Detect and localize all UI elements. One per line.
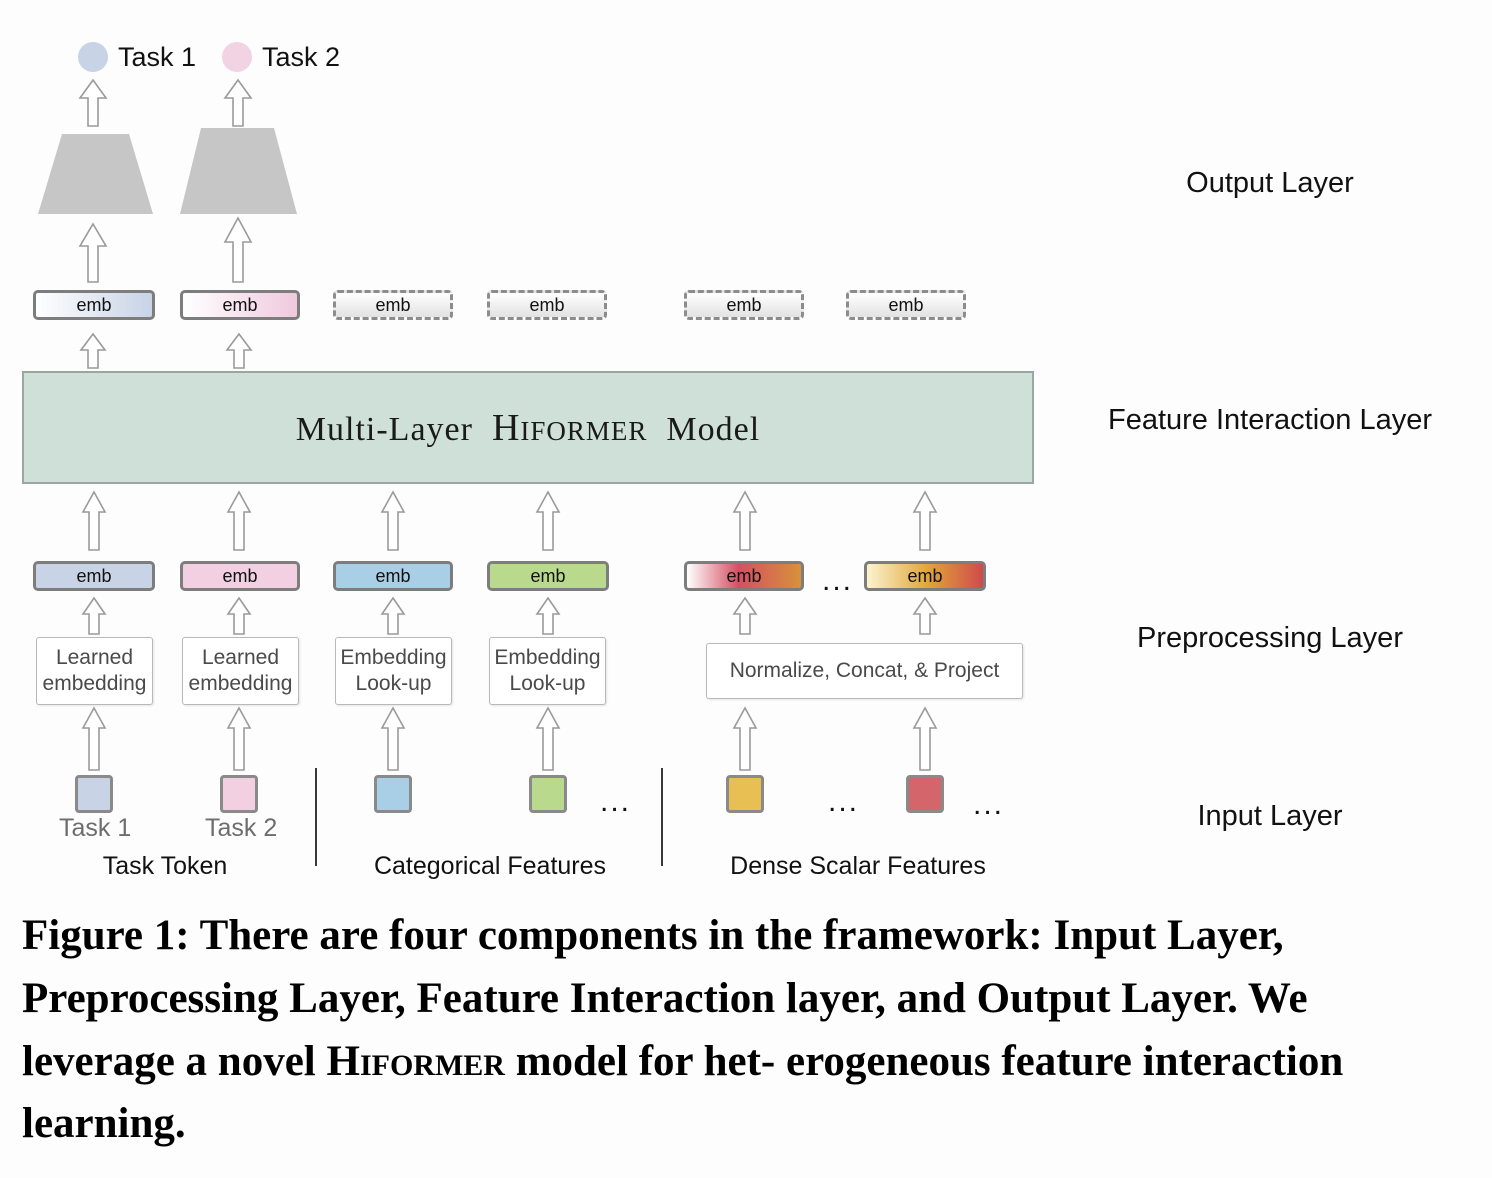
arrow-emb-to-band-4 xyxy=(533,490,563,552)
output-emb-inactive-4-label: emb xyxy=(888,295,923,316)
layer-rule-feature-preprocessing xyxy=(1086,518,1448,521)
output-emb-inactive-2: emb xyxy=(487,290,607,320)
arrow-input-to-proc-3 xyxy=(378,706,408,772)
legend-label-task-2: Task 2 xyxy=(262,42,340,73)
input-square-task-1 xyxy=(75,775,113,813)
legend-label-task-1: Task 1 xyxy=(118,42,196,73)
task-2-tower xyxy=(180,128,297,219)
layer-rule-output-feature xyxy=(1086,331,1448,334)
arrow-emb-to-band-5 xyxy=(730,490,760,552)
proc-box-normalize-concat-project: Normalize, Concat, & Project xyxy=(706,643,1023,699)
arrow-emb-to-band-3 xyxy=(378,490,408,552)
preproc-emb-task-1-label: emb xyxy=(76,566,111,587)
arrow-input-to-proc-2 xyxy=(224,706,254,772)
preproc-emb-categorical-2: emb xyxy=(487,561,609,591)
output-emb-inactive-4: emb xyxy=(846,290,966,320)
hiformer-model-title: Multi-Layer Hiformer Model xyxy=(296,406,760,450)
hiformer-title-prefix: Multi-Layer xyxy=(296,411,492,448)
proc-box-learned-embedding-1: Learned embedding xyxy=(36,637,153,705)
arrow-task-1-emb-to-tower xyxy=(77,222,109,284)
layer-label-output: Output Layer xyxy=(1075,167,1465,200)
arrow-input-to-proc-6 xyxy=(910,706,940,772)
dense-input-ellipsis-2: ... xyxy=(973,790,1004,820)
arrow-band-to-output-emb-1 xyxy=(78,332,108,370)
arrow-task-2-emb-to-tower xyxy=(222,216,254,284)
output-emb-inactive-3: emb xyxy=(684,290,804,320)
preproc-emb-task-2: emb xyxy=(180,561,300,591)
caption-model-name: Hiformer xyxy=(327,1038,505,1085)
proc-box-learned-embedding-2: Learned embedding xyxy=(182,637,299,705)
input-square-dense-2 xyxy=(906,775,944,813)
legend-dot-task-2 xyxy=(222,42,252,72)
preproc-emb-dense-2-label: emb xyxy=(907,566,942,587)
layer-label-preprocessing: Preprocessing Layer xyxy=(1075,622,1465,655)
arrow-task-2-output xyxy=(222,78,254,128)
group-label-task-token: Task Token xyxy=(50,852,280,881)
output-emb-task-2: emb xyxy=(180,290,300,320)
group-divider-1 xyxy=(315,768,317,866)
input-sub-label-task-2: Task 2 xyxy=(205,814,277,843)
hiformer-model-band: Multi-Layer Hiformer Model xyxy=(22,371,1034,484)
arrow-proc-to-emb-5 xyxy=(730,596,760,636)
arrow-proc-to-emb-4 xyxy=(533,596,563,636)
caption-line-3b: model for het- xyxy=(505,1038,775,1085)
preproc-emb-task-2-label: emb xyxy=(222,566,257,587)
layer-label-input: Input Layer xyxy=(1075,800,1465,833)
output-emb-task-1: emb xyxy=(33,290,155,320)
group-divider-2 xyxy=(661,768,663,866)
legend-dot-task-1 xyxy=(78,42,108,72)
layer-rule-bottom xyxy=(1110,872,1462,875)
dense-input-ellipsis-1: ... xyxy=(828,787,859,817)
proc-box-embedding-lookup-1: Embedding Look-up xyxy=(335,637,452,705)
preproc-emb-task-1: emb xyxy=(33,561,155,591)
arrow-input-to-proc-1 xyxy=(79,706,109,772)
group-label-categorical-features: Categorical Features xyxy=(370,852,610,881)
preproc-emb-categorical-2-label: emb xyxy=(530,566,565,587)
arrow-proc-to-emb-2 xyxy=(224,596,254,636)
arrow-input-to-proc-4 xyxy=(533,706,563,772)
task-1-tower xyxy=(38,134,153,219)
output-emb-inactive-2-label: emb xyxy=(529,295,564,316)
preproc-emb-dense-1: emb xyxy=(684,561,804,591)
figure-caption: Figure 1: There are four components in t… xyxy=(22,905,1442,1156)
output-emb-task-1-label: emb xyxy=(76,295,111,316)
layer-rule-top xyxy=(1092,40,1452,43)
arrow-band-to-output-emb-2 xyxy=(224,332,254,370)
preproc-emb-dense-1-label: emb xyxy=(726,566,761,587)
hiformer-title-model: Hiformer xyxy=(492,407,647,449)
arrow-emb-to-band-1 xyxy=(79,490,109,552)
input-square-categorical-2 xyxy=(529,775,567,813)
layer-label-feature-interaction: Feature Interaction Layer xyxy=(1075,404,1465,437)
output-emb-inactive-1-label: emb xyxy=(375,295,410,316)
categorical-input-ellipsis: ... xyxy=(600,787,631,817)
preproc-emb-categorical-1: emb xyxy=(333,561,453,591)
arrow-proc-to-emb-1 xyxy=(79,596,109,636)
preproc-emb-dense-2: emb xyxy=(864,561,986,591)
hiformer-title-suffix: Model xyxy=(647,411,760,448)
input-square-task-2 xyxy=(220,775,258,813)
dense-emb-ellipsis: ... xyxy=(822,566,853,596)
proc-box-embedding-lookup-2: Embedding Look-up xyxy=(489,637,606,705)
input-sub-label-task-1: Task 1 xyxy=(59,814,131,843)
input-square-dense-1 xyxy=(726,775,764,813)
architecture-figure: Task 1 Task 2 emb xyxy=(0,0,1492,905)
arrow-proc-to-emb-3 xyxy=(378,596,408,636)
output-emb-task-2-label: emb xyxy=(222,295,257,316)
arrow-emb-to-band-2 xyxy=(224,490,254,552)
preproc-emb-categorical-1-label: emb xyxy=(375,566,410,587)
group-label-dense-scalar-features: Dense Scalar Features xyxy=(718,852,998,881)
caption-line-1: Figure 1: There are four components in t… xyxy=(22,912,1156,959)
output-emb-inactive-1: emb xyxy=(333,290,453,320)
arrow-task-1-output xyxy=(77,78,109,128)
output-emb-inactive-3-label: emb xyxy=(726,295,761,316)
layer-rule-preprocessing-input xyxy=(1110,729,1462,732)
arrow-emb-to-band-6 xyxy=(910,490,940,552)
input-square-categorical-1 xyxy=(374,775,412,813)
arrow-proc-to-emb-6 xyxy=(910,596,940,636)
arrow-input-to-proc-5 xyxy=(730,706,760,772)
